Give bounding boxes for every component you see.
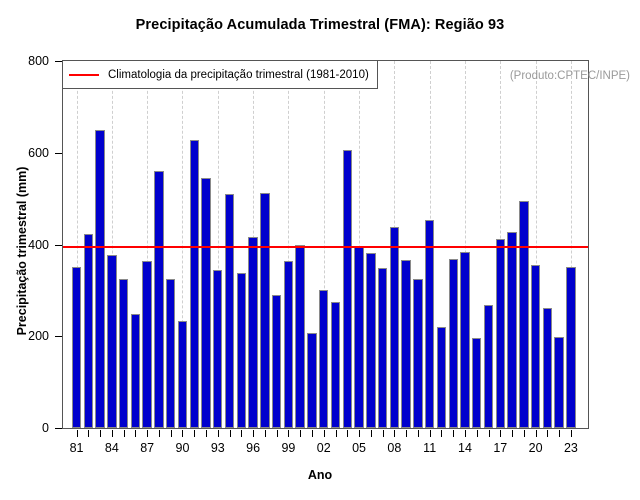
- bar-21: [543, 308, 552, 428]
- x-tick-label-11: 11: [423, 441, 436, 455]
- y-tick-mark: [55, 153, 62, 154]
- y-tick-label-400: 400: [28, 238, 49, 252]
- chart-page: Precipitação Acumulada Trimestral (FMA):…: [0, 0, 640, 500]
- x-tick-mark: [453, 430, 454, 437]
- x-tick-mark: [394, 430, 395, 437]
- x-tick-mark: [135, 430, 136, 437]
- x-tick-mark: [88, 430, 89, 437]
- x-tick-label-08: 08: [387, 441, 401, 455]
- bar-90: [178, 321, 187, 428]
- x-tick-mark: [512, 430, 513, 437]
- bar-86: [131, 314, 140, 428]
- x-tick-mark: [441, 430, 442, 437]
- bar-08: [390, 227, 399, 428]
- x-tick-label-02: 02: [317, 441, 331, 455]
- bar-01: [307, 333, 316, 428]
- plot-inner: [63, 61, 588, 428]
- x-tick-label-84: 84: [105, 441, 119, 455]
- bar-84: [107, 255, 116, 428]
- bar-19: [519, 201, 528, 428]
- bar-99: [284, 261, 293, 428]
- bar-94: [225, 194, 234, 428]
- y-tick-mark: [55, 336, 62, 337]
- bar-81: [72, 267, 81, 428]
- bar-04: [343, 150, 352, 428]
- bar-10: [413, 279, 422, 428]
- x-tick-mark: [359, 430, 360, 437]
- x-tick-mark: [159, 430, 160, 437]
- x-tick-mark: [406, 430, 407, 437]
- bar-95: [237, 273, 246, 428]
- x-tick-mark: [300, 430, 301, 437]
- x-tick-mark: [489, 430, 490, 437]
- legend-line-swatch: [69, 74, 99, 76]
- x-tick-label-17: 17: [493, 441, 507, 455]
- bar-92: [201, 178, 210, 428]
- x-tick-mark: [241, 430, 242, 437]
- x-tick-mark: [277, 430, 278, 437]
- bar-91: [190, 140, 199, 428]
- bar-00: [295, 245, 304, 429]
- x-tick-mark: [336, 430, 337, 437]
- x-tick-mark: [182, 430, 183, 437]
- bar-82: [84, 234, 93, 429]
- chart-title: Precipitação Acumulada Trimestral (FMA):…: [0, 17, 640, 33]
- x-tick-mark: [265, 430, 266, 437]
- bar-89: [166, 279, 175, 428]
- x-tick-mark: [112, 430, 113, 437]
- bar-06: [366, 253, 375, 428]
- bar-85: [119, 279, 128, 428]
- x-tick-mark: [383, 430, 384, 437]
- y-axis-label: Precipitação trimestral (mm): [15, 111, 29, 391]
- x-tick-mark: [288, 430, 289, 437]
- x-tick-label-81: 81: [70, 441, 84, 455]
- y-tick-label-600: 600: [28, 146, 49, 160]
- y-tick-label-0: 0: [42, 421, 49, 435]
- x-tick-mark: [230, 430, 231, 437]
- legend-item-label: Climatologia da precipitação trimestral …: [108, 69, 369, 81]
- x-tick-mark: [371, 430, 372, 437]
- x-tick-mark: [430, 430, 431, 437]
- climatology-reference-line: [63, 246, 588, 248]
- x-tick-label-23: 23: [564, 441, 578, 455]
- x-tick-mark: [559, 430, 560, 437]
- bar-23: [566, 267, 575, 428]
- bar-12: [437, 327, 446, 428]
- x-tick-mark: [465, 430, 466, 437]
- x-tick-label-99: 99: [281, 441, 295, 455]
- x-tick-mark: [77, 430, 78, 437]
- x-tick-mark: [194, 430, 195, 437]
- bar-22: [554, 337, 563, 428]
- x-tick-mark: [536, 430, 537, 437]
- x-tick-label-20: 20: [529, 441, 543, 455]
- x-tick-label-93: 93: [211, 441, 225, 455]
- bar-88: [154, 171, 163, 428]
- x-tick-label-87: 87: [140, 441, 154, 455]
- y-tick-mark: [55, 428, 62, 429]
- x-tick-mark: [147, 430, 148, 437]
- legend: Climatologia da precipitação trimestral …: [62, 60, 378, 89]
- bar-14: [460, 252, 469, 428]
- x-tick-mark: [218, 430, 219, 437]
- bar-03: [331, 302, 340, 428]
- product-credit: (Produto:CPTEC/INPE): [510, 70, 630, 82]
- x-tick-mark: [100, 430, 101, 437]
- bar-98: [272, 295, 281, 428]
- x-tick-mark: [171, 430, 172, 437]
- bar-16: [484, 305, 493, 428]
- bar-96: [248, 237, 257, 428]
- y-tick-label-200: 200: [28, 329, 49, 343]
- x-tick-label-96: 96: [246, 441, 260, 455]
- bar-17: [496, 239, 505, 428]
- x-tick-label-90: 90: [176, 441, 190, 455]
- x-tick-mark: [571, 430, 572, 437]
- bar-09: [401, 260, 410, 428]
- x-axis-label: Ano: [0, 468, 640, 482]
- x-tick-mark: [253, 430, 254, 437]
- x-tick-mark: [206, 430, 207, 437]
- bar-83: [95, 130, 104, 428]
- bar-02: [319, 290, 328, 428]
- bar-11: [425, 220, 434, 428]
- x-tick-label-14: 14: [458, 441, 472, 455]
- x-tick-mark: [312, 430, 313, 437]
- x-tick-mark: [477, 430, 478, 437]
- x-tick-mark: [324, 430, 325, 437]
- y-tick-mark: [55, 245, 62, 246]
- plot-area: [62, 60, 589, 429]
- bar-18: [507, 232, 516, 428]
- x-tick-mark: [347, 430, 348, 437]
- y-tick-label-800: 800: [28, 54, 49, 68]
- bar-07: [378, 268, 387, 428]
- bar-97: [260, 193, 269, 428]
- x-tick-mark: [124, 430, 125, 437]
- bar-15: [472, 338, 481, 428]
- x-tick-mark: [547, 430, 548, 437]
- bar-05: [354, 247, 363, 428]
- x-tick-mark: [500, 430, 501, 437]
- x-tick-mark: [418, 430, 419, 437]
- bar-93: [213, 270, 222, 428]
- x-tick-label-05: 05: [352, 441, 366, 455]
- x-tick-mark: [524, 430, 525, 437]
- bar-20: [531, 265, 540, 428]
- y-tick-mark: [55, 61, 62, 62]
- bar-13: [449, 259, 458, 428]
- bar-87: [142, 261, 151, 428]
